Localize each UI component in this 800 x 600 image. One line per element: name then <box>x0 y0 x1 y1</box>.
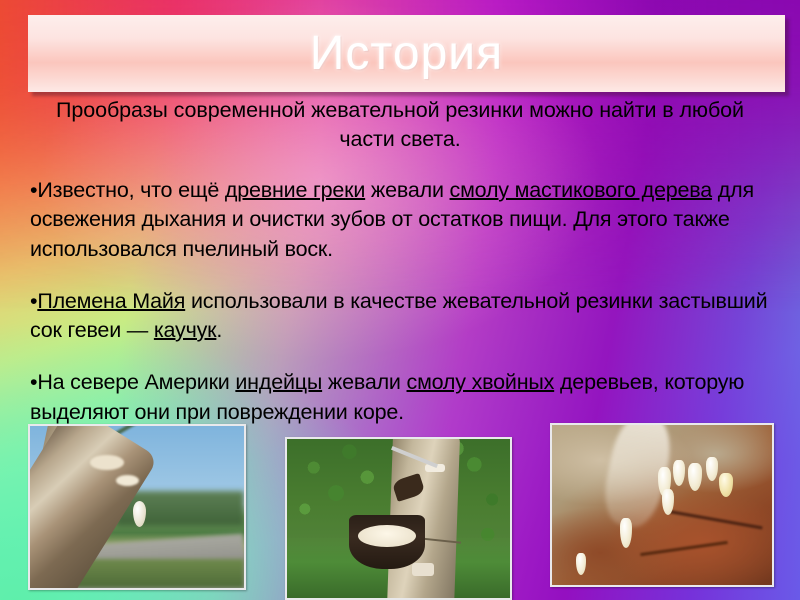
bullet-text: . <box>216 318 222 342</box>
slide-body: Прообразы современной жевательной резинк… <box>0 96 800 427</box>
bullet-item: •Племена Майя использовали в качестве же… <box>30 287 772 345</box>
bullet-text: На севере Америки <box>37 370 235 394</box>
bullet-text: жевали <box>322 370 406 394</box>
page-title: История <box>310 30 503 78</box>
photo-latex-collection-cup <box>285 437 512 600</box>
presentation-slide: История Прообразы современной жевательно… <box>0 0 800 600</box>
lead-paragraph: Прообразы современной жевательной резинк… <box>30 96 770 153</box>
bullet-item: •На севере Америки индейцы жевали смолу … <box>30 368 772 426</box>
bullet-underlined-term: смолу мастикового дерева <box>450 178 712 202</box>
bullet-underlined-term: древние греки <box>225 178 365 202</box>
bullet-underlined-term: индейцы <box>235 370 322 394</box>
bullet-underlined-term: смолу хвойных <box>407 370 555 394</box>
bullet-list: •Известно, что ещё древние греки жевали … <box>0 176 800 427</box>
photo-resin-drip-on-tree-branch <box>28 424 246 590</box>
bullet-text: жевали <box>365 178 449 202</box>
bullet-underlined-term: каучук <box>154 318 217 342</box>
bullet-text: Известно, что ещё <box>37 178 225 202</box>
bullet-item: •Известно, что ещё древние греки жевали … <box>30 176 772 264</box>
bullet-underlined-term: Племена Майя <box>37 289 185 313</box>
photo-resin-droplets-on-bark <box>550 423 774 587</box>
slide-title-box: История <box>28 15 785 92</box>
